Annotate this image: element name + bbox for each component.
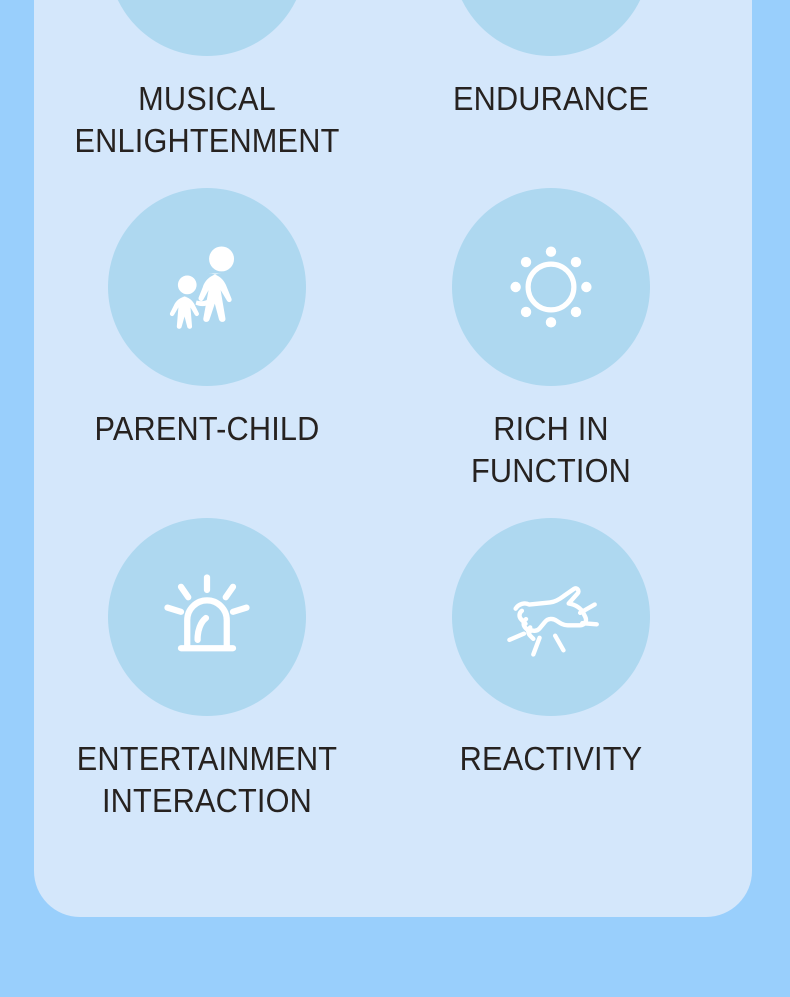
feature-label-reactivity: REACTIVITY (398, 738, 705, 780)
feature-item-musical-enlightenment[interactable]: MUSICAL ENLIGHTENMENT (42, 0, 372, 161)
battery-icon (499, 0, 603, 9)
page-root: MUSICAL ENLIGHTENMENT ENDURANCE (0, 0, 790, 997)
icon-circle-endurance (452, 0, 650, 56)
icon-circle-parent-child (108, 188, 306, 386)
icon-circle-entertainment-interaction (108, 518, 306, 716)
parent-child-icon (155, 235, 259, 339)
feature-item-parent-child[interactable]: PARENT-CHILD (42, 188, 372, 450)
feature-item-entertainment-interaction[interactable]: ENTERTAINMENT INTERACTION (42, 518, 372, 821)
siren-light-icon (155, 565, 259, 669)
feature-label-entertainment-interaction: ENTERTAINMENT INTERACTION (54, 738, 361, 821)
icon-circle-rich-in-function (452, 188, 650, 386)
feature-grid: MUSICAL ENLIGHTENMENT ENDURANCE (34, 0, 752, 917)
icon-circle-musical-enlightenment (108, 0, 306, 56)
feature-highlights-card: MUSICAL ENLIGHTENMENT ENDURANCE (34, 0, 752, 917)
feature-item-reactivity[interactable]: REACTIVITY (386, 518, 716, 780)
music-note-icon (155, 0, 259, 9)
icon-circle-reactivity (452, 518, 650, 716)
feature-label-rich-in-function: RICH IN FUNCTION (398, 408, 705, 491)
pointing-hand-icon (499, 565, 603, 669)
feature-item-endurance[interactable]: ENDURANCE (386, 0, 716, 120)
feature-label-musical-enlightenment: MUSICAL ENLIGHTENMENT (54, 78, 361, 161)
sun-brightness-icon (499, 235, 603, 339)
feature-item-rich-in-function[interactable]: RICH IN FUNCTION (386, 188, 716, 491)
feature-label-endurance: ENDURANCE (398, 78, 705, 120)
feature-label-parent-child: PARENT-CHILD (54, 408, 361, 450)
